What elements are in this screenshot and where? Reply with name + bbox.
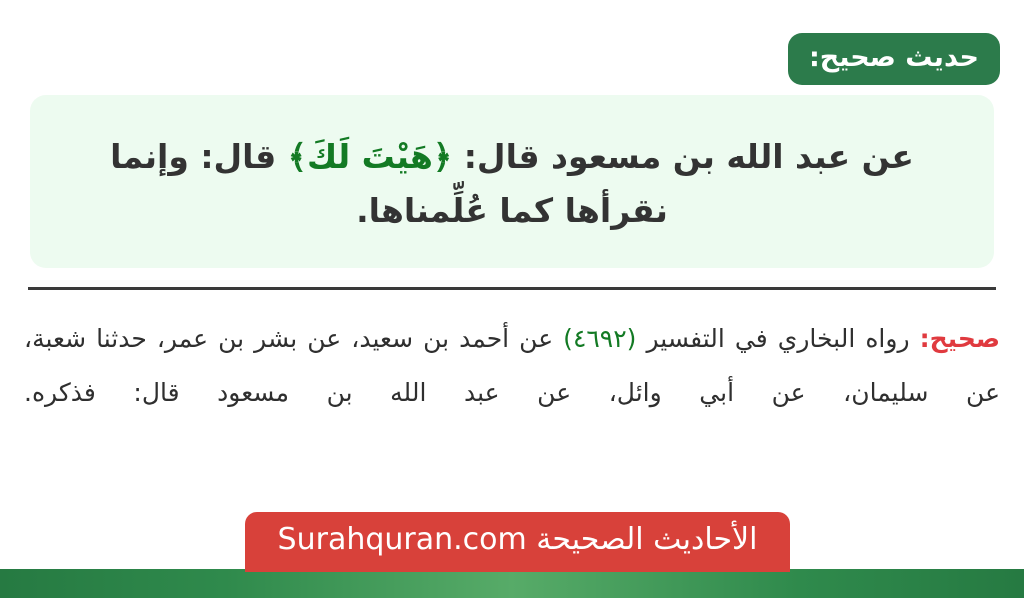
attribution-paragraph: صحيح: رواه البخاري في التفسير (٤٦٩٢) عن … [24, 312, 1000, 421]
hadith-card: حديث صحيح: عن عبد الله بن مسعود قال: ﴿هَ… [0, 0, 1024, 598]
attribution-grade-label: صحيح: [920, 324, 1000, 353]
hadith-number: (٤٦٩٢) [563, 324, 636, 353]
hadith-body: عن عبد الله بن مسعود قال: ﴿هَيْتَ لَكَ﴾ … [64, 130, 960, 237]
status-badge: حديث صحيح: [788, 33, 1000, 85]
attribution-part-one: رواه البخاري في التفسير [636, 324, 919, 353]
quran-quote: ﴿هَيْتَ لَكَ﴾ [288, 137, 453, 176]
hadith-text-panel: عن عبد الله بن مسعود قال: ﴿هَيْتَ لَكَ﴾ … [30, 95, 994, 268]
divider [28, 287, 996, 290]
footer-bar [0, 569, 1024, 598]
hadith-text-before-quote: عن عبد الله بن مسعود قال: [452, 137, 914, 176]
brand-button[interactable]: الأحاديث الصحيحة Surahquran.com [245, 512, 790, 572]
brand-button-label: الأحاديث الصحيحة Surahquran.com [278, 525, 758, 555]
status-badge-label: حديث صحيح: [809, 44, 979, 71]
